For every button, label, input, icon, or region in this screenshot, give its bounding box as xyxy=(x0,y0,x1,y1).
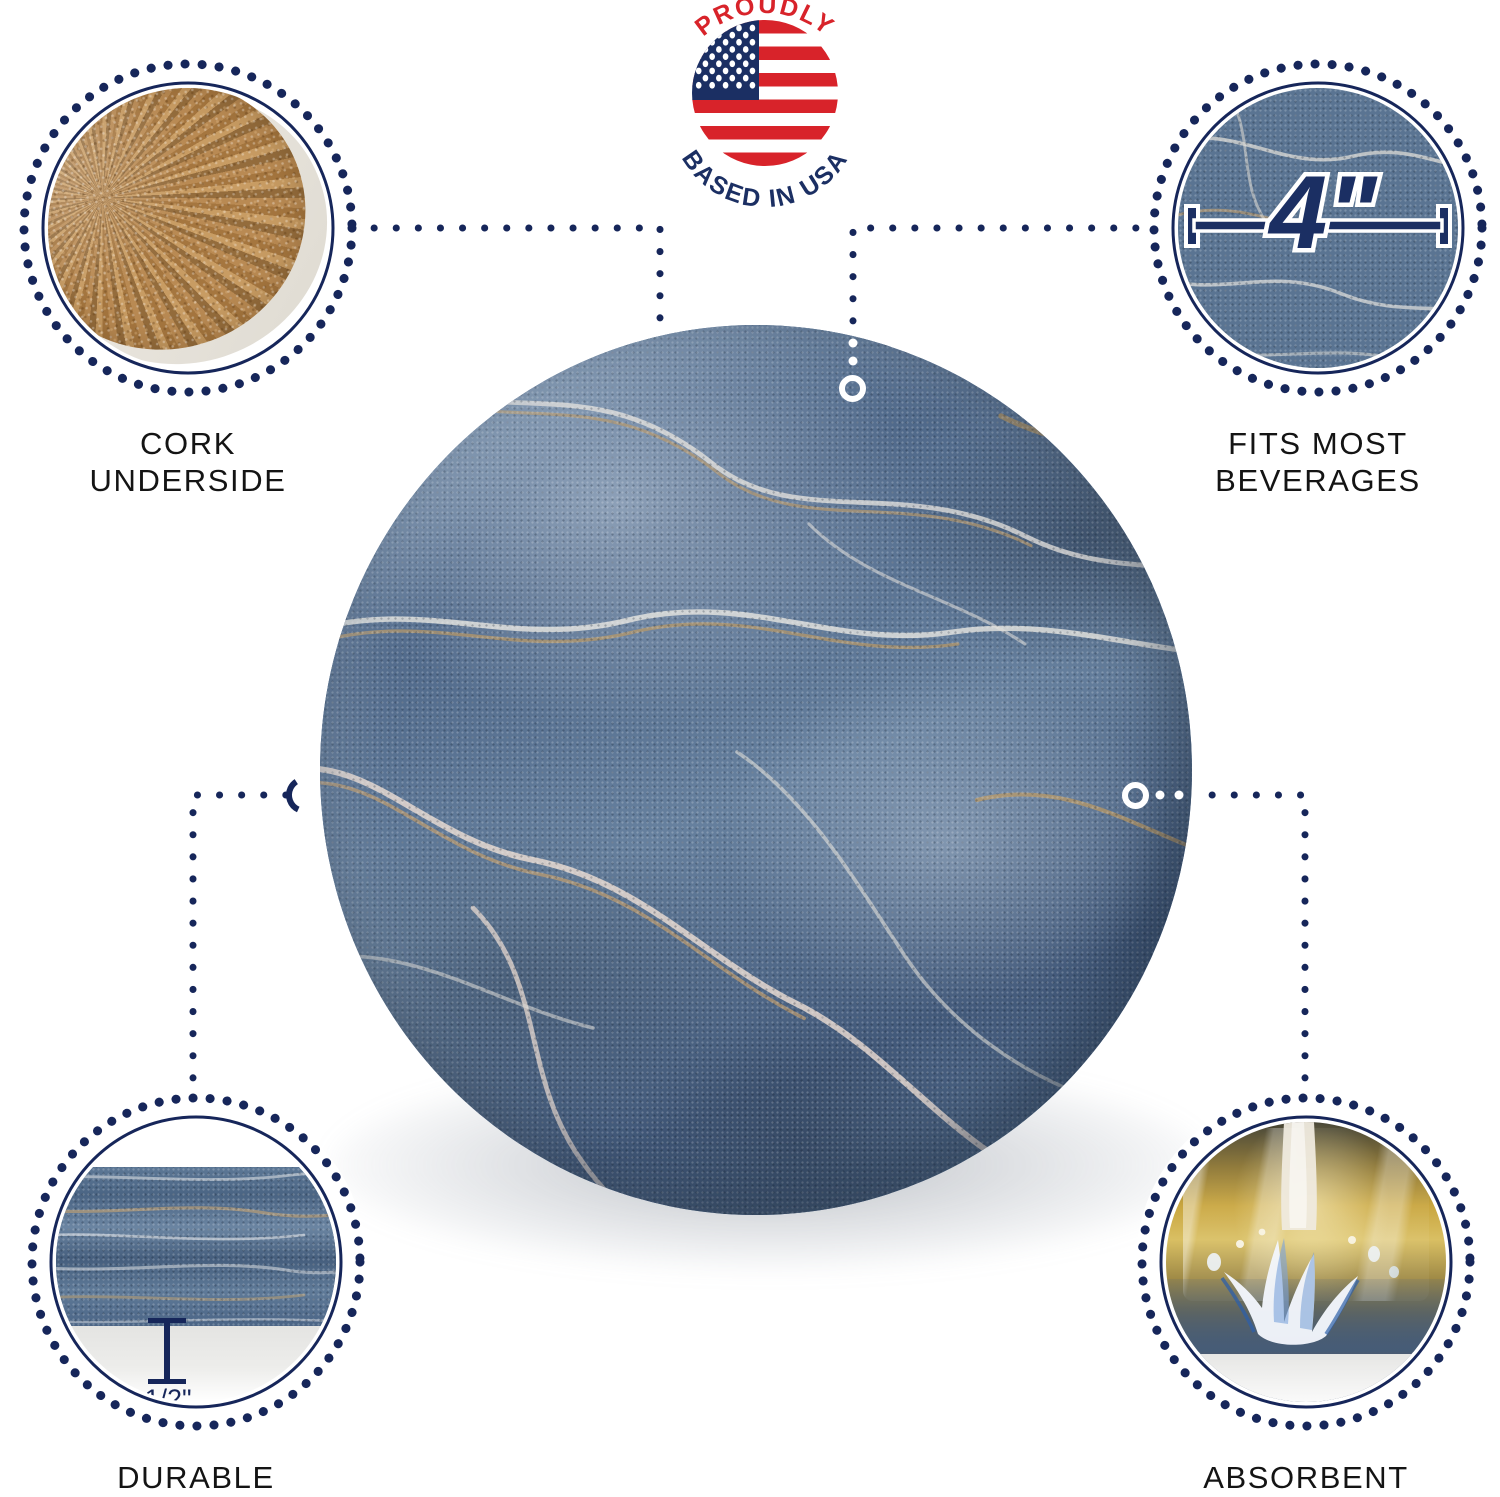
connector-durable xyxy=(193,795,300,1100)
marker-top-center-dots xyxy=(845,338,861,374)
label-line-1: FITS MOST xyxy=(1148,426,1488,463)
infographic-stage: PROUDLY BASED IN USA xyxy=(0,0,1500,1487)
callout-fits-most-beverages-label: FITS MOST BEVERAGES xyxy=(1148,426,1488,499)
dimension-value-4in: 4" xyxy=(1178,88,1458,368)
callout-durable-label: DURABLE xyxy=(26,1460,366,1497)
dimension-line-half-inch xyxy=(56,1122,336,1402)
main-coaster-image xyxy=(320,325,1192,1215)
label-line-1: CORK xyxy=(18,426,358,463)
marble-surface xyxy=(320,325,1192,1215)
callout-absorbent[interactable]: ABSORBENT xyxy=(1136,1092,1476,1487)
cork-disc-icon xyxy=(48,88,328,368)
label-line-2: UNDERSIDE xyxy=(18,463,358,500)
coaster-edge-shading xyxy=(320,325,1192,1215)
label-line-2: BEVERAGES xyxy=(1148,463,1488,500)
connector-absorbent xyxy=(1195,795,1305,1100)
callout-absorbent-label: ABSORBENT xyxy=(1136,1460,1476,1497)
svg-text:4": 4" xyxy=(1267,155,1378,271)
label-line-1: ABSORBENT xyxy=(1136,1460,1476,1497)
marker-right-edge-dots xyxy=(1155,787,1201,805)
marker-top-center xyxy=(839,375,866,402)
label-line-1: DURABLE xyxy=(26,1460,366,1497)
table-surface xyxy=(1166,1354,1446,1402)
marker-left-edge-outline xyxy=(286,776,328,818)
liquid-splash-icon xyxy=(1166,1122,1446,1402)
callout-cork-underside[interactable]: CORK UNDERSIDE xyxy=(18,58,358,528)
callout-durable[interactable]: 1/2" DURABLE xyxy=(26,1092,366,1487)
dimension-value-half-inch: 1/2" xyxy=(114,1384,222,1402)
width-dimension-icon: 4" xyxy=(1178,88,1458,368)
marker-right-edge xyxy=(1122,782,1149,809)
callout-cork-underside-label: CORK UNDERSIDE xyxy=(18,426,358,499)
thickness-dimension-icon: 1/2" xyxy=(56,1122,336,1402)
callout-fits-most-beverages[interactable]: 4" FITS MOST BEVERAGES xyxy=(1148,58,1488,528)
